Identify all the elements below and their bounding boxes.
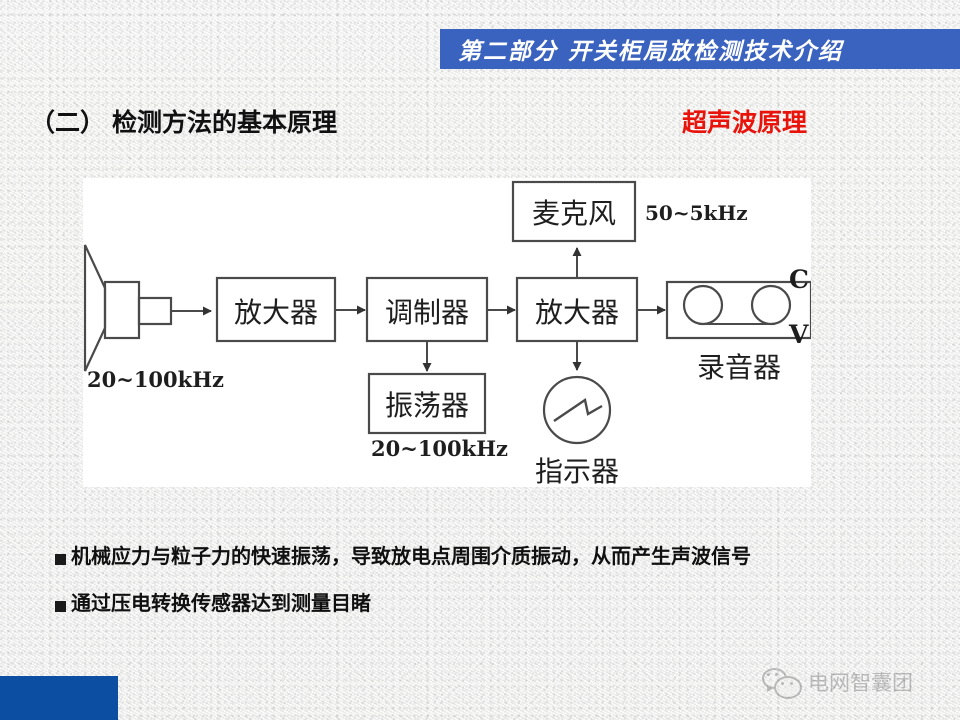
footer-accent-block — [0, 676, 118, 720]
section-heading: （二） 检测方法的基本原理 — [30, 103, 337, 139]
label-indicator: 指示器 — [535, 455, 619, 487]
block-label-oscillator: 振荡器 — [385, 389, 469, 422]
heading-row: （二） 检测方法的基本原理 超声波原理 — [30, 103, 930, 137]
bullet-list: 机械应力与粒子力的快速振荡，导致放电点周围介质振动，从而产生声波信号 通过压电转… — [55, 545, 935, 639]
bullet-item-2: 通过压电转换传感器达到测量目睹 — [55, 592, 935, 617]
label-source-frequency: 20~100kHz — [87, 367, 224, 392]
ultrasonic-block-diagram: 放大器 调制器 振荡器 放大器 麦克风 20~100kHz 20~100kHz … — [83, 178, 811, 487]
block-label-amp1: 放大器 — [234, 296, 318, 329]
square-bullet-icon — [55, 554, 66, 565]
slide-canvas: 第二部分 开关柜局放检测技术介绍 （二） 检测方法的基本原理 超声波原理 — [0, 0, 960, 720]
section-subheading: 超声波原理 — [682, 103, 807, 139]
watermark: 电网智囊团 — [762, 662, 952, 702]
label-right-v: V — [788, 320, 809, 349]
bullet-item-1: 机械应力与粒子力的快速振荡，导致放电点周围介质振动，从而产生声波信号 — [55, 545, 935, 570]
watermark-text: 电网智囊团 — [808, 667, 913, 697]
wechat-icon — [762, 668, 800, 696]
transducer-horn — [85, 245, 171, 371]
block-label-amp2: 放大器 — [535, 296, 619, 329]
block-label-modulator: 调制器 — [385, 296, 469, 329]
square-bullet-icon — [55, 601, 66, 612]
label-microphone-frequency: 50~5kHz — [645, 201, 748, 225]
bullet-text-1: 机械应力与粒子力的快速振荡，导致放电点周围介质振动，从而产生声波信号 — [71, 545, 751, 570]
label-right-c: C — [789, 265, 809, 294]
label-recorder: 录音器 — [697, 351, 781, 384]
indicator-symbol — [544, 377, 610, 443]
header-banner: 第二部分 开关柜局放检测技术介绍 — [440, 29, 960, 69]
header-title: 第二部分 开关柜局放检测技术介绍 — [458, 32, 843, 66]
block-diagram-panel: 放大器 调制器 振荡器 放大器 麦克风 20~100kHz 20~100kHz … — [83, 178, 811, 487]
bullet-text-2: 通过压电转换传感器达到测量目睹 — [71, 592, 371, 617]
block-label-microphone: 麦克风 — [532, 197, 616, 230]
label-oscillator-frequency: 20~100kHz — [371, 436, 508, 461]
